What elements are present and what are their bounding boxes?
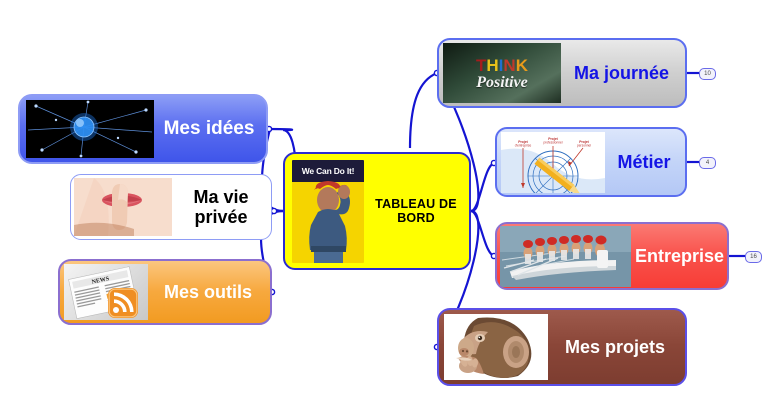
think-letter-n: N [503,57,515,74]
blue-neuron-brain-image [26,100,154,158]
branch-label-ma-vie-privee: Ma vie privée [174,187,268,227]
branch-node-entreprise[interactable]: Entreprise [495,222,729,290]
svg-text:personnel: personnel [577,143,591,147]
svg-text:d'entreprise: d'entreprise [515,143,532,147]
collapse-badge-ma-journee[interactable]: 10 [699,68,716,80]
thinking-chimpanzee-image [444,314,548,380]
think-letter-t: T [476,57,486,74]
we-can-do-it-poster-image: We Can Do It! [292,160,364,263]
svg-text:professionnel: professionnel [544,140,563,144]
finger-on-lips-shush-image [74,178,172,236]
collapse-badge-entreprise[interactable]: 16 [745,251,762,263]
branch-label-mes-idees: Mes idées [156,118,262,139]
rowing-team-crew-image [500,226,631,287]
branch-label-entreprise: Entreprise [631,246,728,266]
mindmap-canvas: We Can Do It! TABLEAU DE BORD [0,0,768,412]
branch-node-mes-projets[interactable]: Mes projets [437,308,687,386]
think-positive-image: THINK Positive [443,43,561,103]
central-node-label: TABLEAU DE BORD [369,197,463,225]
branch-label-ma-journee: Ma journée [562,63,681,83]
branch-node-metier[interactable]: Projet d'entreprise Projet professionnel… [495,127,687,197]
think-word: THINK [448,57,557,74]
collapse-badge-metier[interactable]: 4 [699,157,716,169]
branch-label-mes-projets: Mes projets [550,337,680,357]
branch-node-ma-vie-privee[interactable]: Ma vie privée [70,174,272,240]
branch-node-mes-outils[interactable]: NEWS [58,259,272,325]
branch-node-mes-idees[interactable]: Mes idées [18,94,268,164]
branch-label-mes-outils: Mes outils [150,282,266,302]
think-subtitle: Positive [445,75,558,91]
branch-node-ma-journee[interactable]: THINK Positive Ma journée [437,38,687,108]
branch-label-metier: Métier [607,152,681,172]
think-letter-h: H [486,57,498,74]
compass-pencil-diagram-image: Projet d'entreprise Projet professionnel… [501,132,605,193]
central-node-tableau-de-bord[interactable]: We Can Do It! TABLEAU DE BORD [283,152,471,270]
think-letter-k: K [516,57,528,74]
newspaper-rss-feed-image: NEWS [64,264,148,320]
